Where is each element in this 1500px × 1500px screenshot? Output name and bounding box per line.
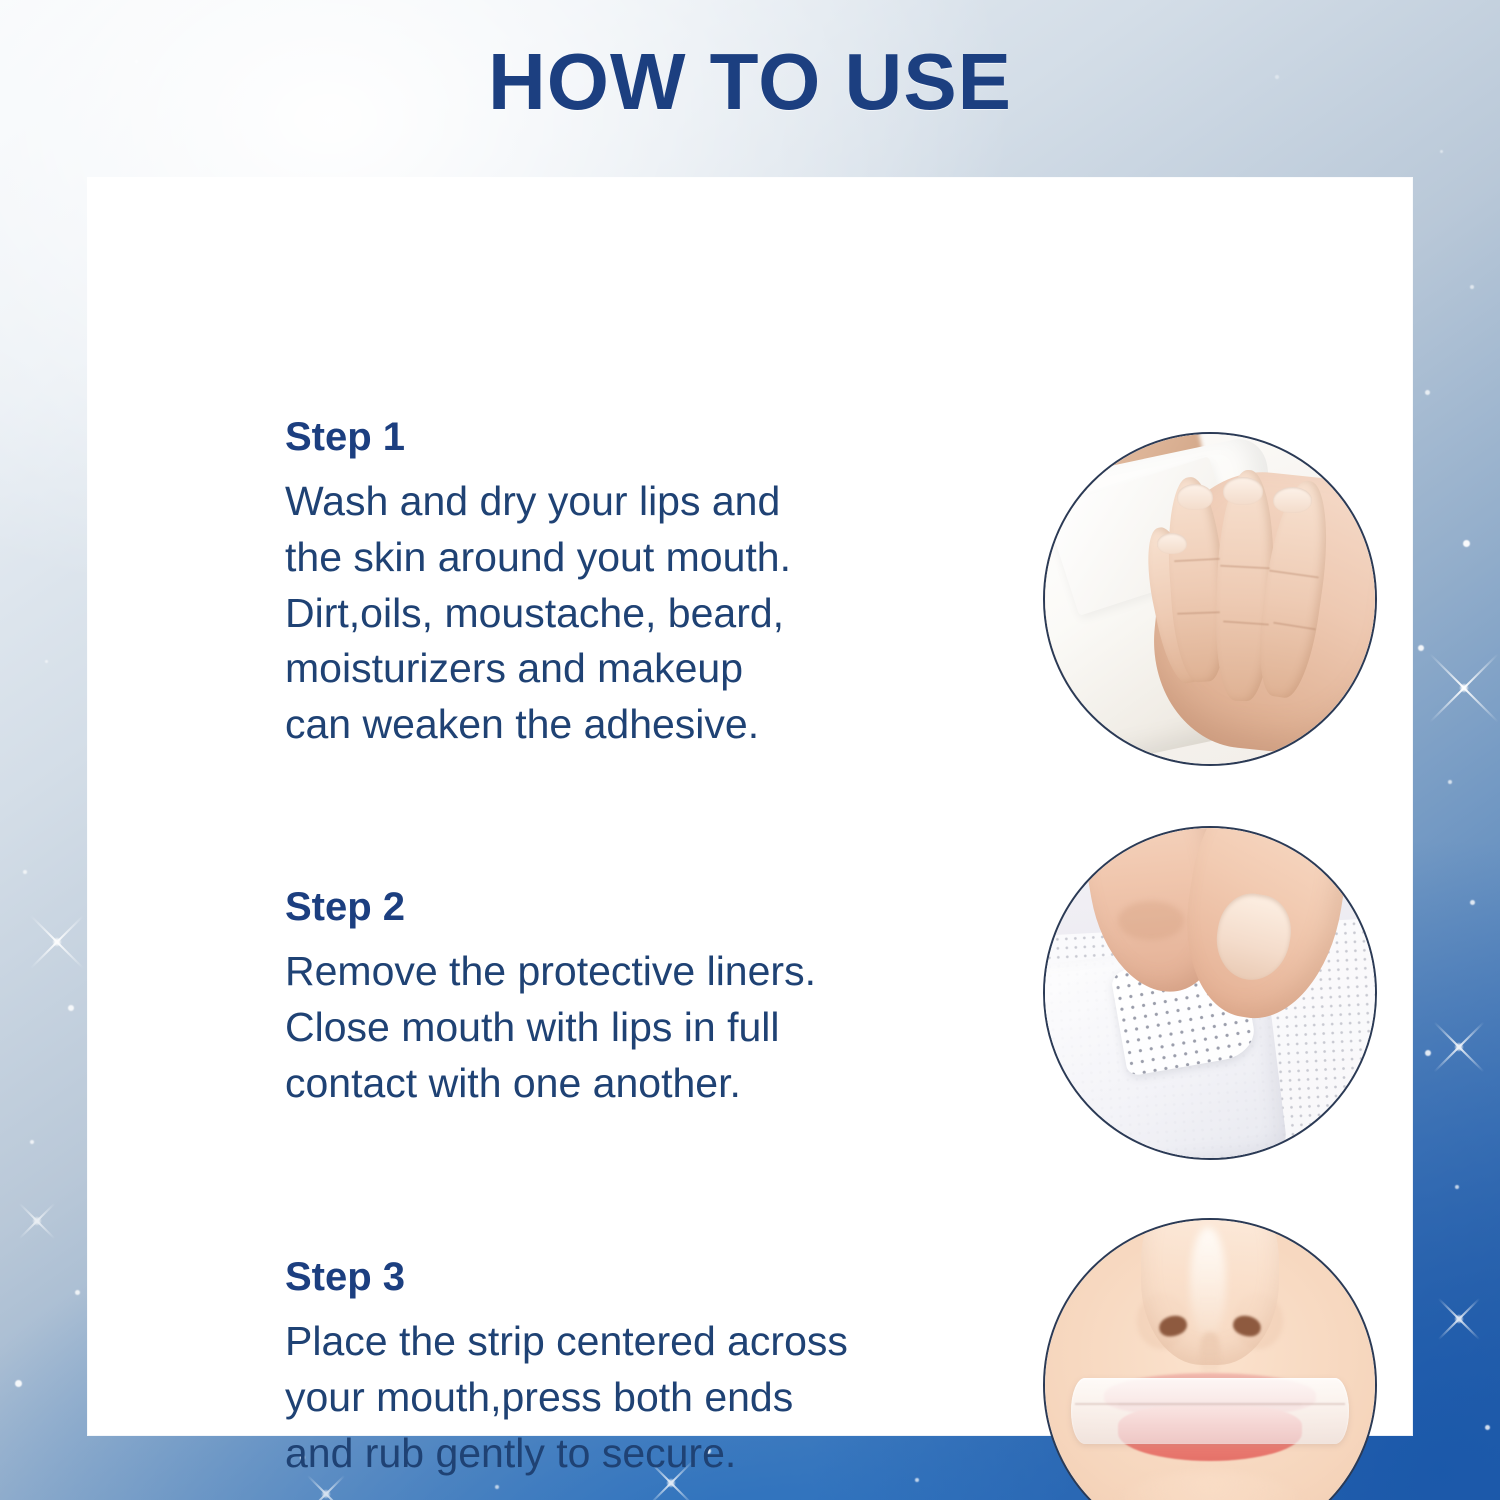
step-1-label: Step 1: [285, 416, 925, 458]
peeling-liner-illustration: [1045, 828, 1375, 1158]
mouth-with-strip-illustration: [1045, 1220, 1375, 1500]
page-title: HOW TO USE: [0, 42, 1500, 122]
content-card: Step 1 Wash and dry your lips and the sk…: [88, 178, 1412, 1435]
step-3-description: Place the strip centered across your mou…: [285, 1314, 925, 1481]
step-block-1: Step 1 Wash and dry your lips and the sk…: [285, 416, 925, 753]
step-block-3: Step 3 Place the strip centered across y…: [285, 1256, 925, 1481]
infographic-page: HOW TO USE Step 1 Wash and dry your lips…: [0, 0, 1500, 1500]
step-3-label: Step 3: [285, 1256, 925, 1298]
step-2-photo: [1043, 826, 1377, 1160]
step-block-2: Step 2 Remove the protective liners. Clo…: [285, 886, 925, 1111]
step-2-description: Remove the protective liners. Close mout…: [285, 944, 925, 1111]
step-1-description: Wash and dry your lips and the skin arou…: [285, 474, 925, 753]
hand-wiping-face-illustration: [1045, 434, 1375, 764]
step-3-photo: [1043, 1218, 1377, 1500]
step-1-photo: [1043, 432, 1377, 766]
step-2-label: Step 2: [285, 886, 925, 928]
